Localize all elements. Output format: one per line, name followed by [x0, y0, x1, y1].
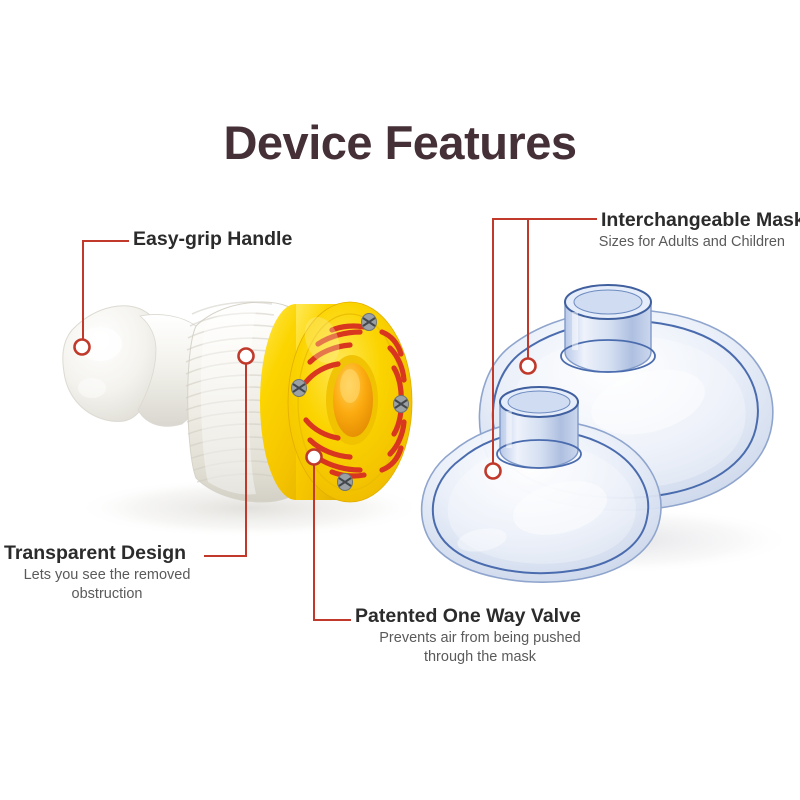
callout-subtitle-valve-line2: through the mask [424, 649, 536, 665]
callout-transparent-design: Transparent Design Lets you see the remo… [4, 542, 210, 604]
callout-subtitle-transparent-line1: Lets you see the removed [24, 567, 191, 583]
screw-left [292, 380, 307, 397]
infographic-canvas: Device Features Easy-grip Handle Interch… [0, 0, 800, 800]
callout-subtitle-transparent-line2: obstruction [72, 586, 143, 602]
patented-one-way-valve [260, 302, 412, 502]
child-mask-port [497, 387, 581, 468]
callout-heading-mask: Interchangeable Mask [601, 209, 800, 231]
screw-bottom [338, 474, 353, 491]
easy-grip-handle [63, 306, 208, 427]
callout-interchangeable-mask: Interchangeable Mask Sizes for Adults an… [601, 209, 800, 252]
callout-subtitle-valve: Prevents air from being pushed through t… [355, 629, 605, 666]
callout-subtitle-mask: Sizes for Adults and Children [579, 233, 800, 252]
callout-subtitle-valve-line1: Prevents air from being pushed [379, 630, 581, 646]
callout-heading-valve: Patented One Way Valve [355, 605, 605, 627]
screw-top [362, 314, 377, 331]
callout-heading-transparent: Transparent Design [4, 542, 210, 564]
callout-patented-one-way-valve: Patented One Way Valve Prevents air from… [355, 605, 605, 667]
callout-easy-grip-handle: Easy-grip Handle [133, 228, 292, 250]
callout-heading-handle: Easy-grip Handle [133, 228, 292, 250]
callout-subtitle-transparent: Lets you see the removed obstruction [4, 566, 210, 603]
adult-mask-port [561, 285, 655, 372]
screw-right [394, 396, 409, 413]
page-title: Device Features [0, 118, 800, 167]
